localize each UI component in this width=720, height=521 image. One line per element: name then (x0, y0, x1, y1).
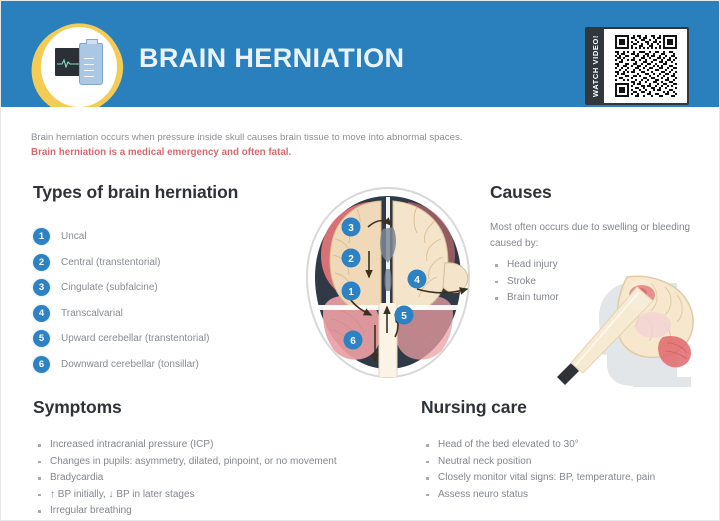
symptoms-heading: Symptoms (33, 397, 122, 418)
nursing-care-heading: Nursing care (421, 397, 527, 418)
symptoms-list: Increased intracranial pressure (ICP) Ch… (33, 437, 433, 520)
list-item: Assess neuro status (421, 487, 691, 504)
list-item: Bradycardia (33, 470, 433, 487)
iv-bag-icon (79, 43, 103, 85)
list-item: Irregular breathing (33, 503, 433, 520)
svg-text:2: 2 (348, 254, 354, 265)
type-number-badge: 4 (33, 305, 50, 322)
brand-logo (27, 17, 131, 107)
svg-text:3: 3 (348, 223, 354, 234)
head-profile-icon (541, 259, 720, 387)
nursing-care-list: Head of the bed elevated to 30° Neutral … (421, 437, 691, 503)
list-item: 2 Central (transtentorial) (33, 250, 283, 276)
list-item: 5 Upward cerebellar (transtentorial) (33, 326, 283, 352)
type-number-badge: 3 (33, 279, 50, 296)
type-label: Cingulate (subfalcine) (61, 282, 158, 293)
watch-video-qr-badge[interactable]: WATCH VIDEO! (585, 27, 689, 105)
causes-lead-text: Most often occurs due to swelling or ble… (490, 220, 695, 251)
type-label: Uncal (61, 231, 87, 242)
watch-video-label: WATCH VIDEO! (587, 29, 604, 103)
svg-text:1: 1 (348, 287, 354, 298)
iv-bag-cap (86, 39, 98, 44)
list-item: Closely monitor vital signs: BP, tempera… (421, 470, 691, 487)
list-item: Increased intracranial pressure (ICP) (33, 437, 433, 454)
qr-code-matrix (613, 33, 679, 99)
type-number-badge: 2 (33, 254, 50, 271)
type-label: Downward cerebellar (tonsillar) (61, 359, 199, 370)
list-item: 3 Cingulate (subfalcine) (33, 275, 283, 301)
type-number-badge: 6 (33, 356, 50, 373)
head-injury-illustration (541, 259, 720, 387)
list-item: 1 Uncal (33, 224, 283, 250)
svg-text:4: 4 (414, 275, 420, 286)
page-title: BRAIN HERNIATION (139, 43, 404, 74)
svg-text:6: 6 (350, 336, 356, 347)
svg-text:5: 5 (401, 311, 407, 322)
type-label: Transcalvarial (61, 308, 123, 319)
list-item: ↑ BP initially, ↓ BP in later stages (33, 487, 433, 504)
brain-cross-section-icon: 3 2 1 4 5 6 (295, 185, 481, 381)
intro-text-warning: Brain herniation is a medical emergency … (31, 145, 591, 160)
list-item: 4 Transcalvarial (33, 301, 283, 327)
types-list: 1 Uncal 2 Central (transtentorial) 3 Cin… (33, 224, 283, 377)
list-item: Neutral neck position (421, 454, 691, 471)
page-header: BRAIN HERNIATION WATCH VIDEO! (1, 1, 720, 107)
causes-heading: Causes (490, 182, 552, 203)
list-item: Head of the bed elevated to 30° (421, 437, 691, 454)
list-item: Changes in pupils: asymmetry, dilated, p… (33, 454, 433, 471)
watch-video-text: WATCH VIDEO! (591, 35, 600, 97)
types-heading: Types of brain herniation (33, 182, 238, 203)
intro-text-primary: Brain herniation occurs when pressure in… (31, 131, 591, 145)
intro-block: Brain herniation occurs when pressure in… (31, 131, 591, 160)
list-item: 6 Downward cerebellar (tonsillar) (33, 352, 283, 378)
type-label: Central (transtentorial) (61, 257, 160, 268)
type-number-badge: 5 (33, 330, 50, 347)
type-number-badge: 1 (33, 228, 50, 245)
qr-code-icon[interactable] (604, 29, 687, 103)
brain-herniation-diagram: 3 2 1 4 5 6 (295, 185, 481, 381)
infographic-page: BRAIN HERNIATION WATCH VIDEO! (0, 0, 720, 521)
type-label: Upward cerebellar (transtentorial) (61, 333, 209, 344)
